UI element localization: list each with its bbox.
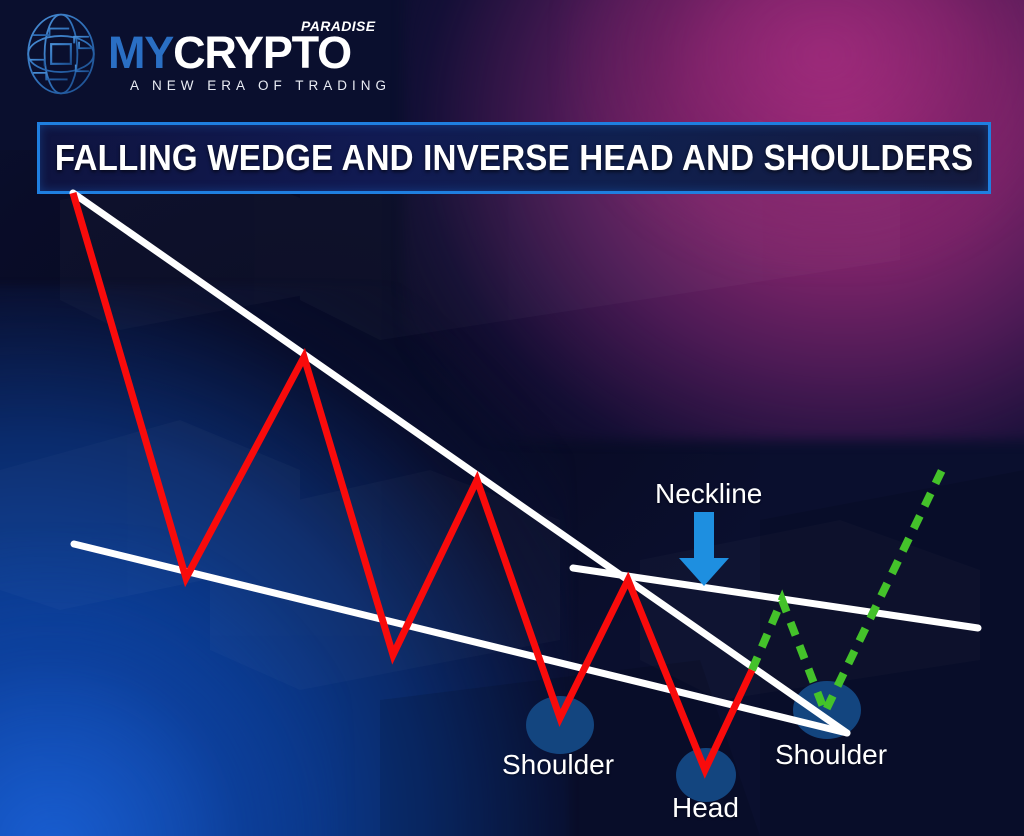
head-label: Head bbox=[672, 792, 739, 824]
projection-breakout-line bbox=[752, 470, 942, 712]
neckline-label: Neckline bbox=[655, 478, 762, 510]
pattern-chart bbox=[0, 0, 1024, 836]
infographic-canvas: MYCRYPTO PARADISE A NEW ERA OF TRADING F… bbox=[0, 0, 1024, 836]
shoulder-right-label: Shoulder bbox=[775, 739, 887, 771]
shoulder-left-label: Shoulder bbox=[502, 749, 614, 781]
wedge-upper-trendline bbox=[73, 193, 847, 733]
neckline-arrow-icon bbox=[679, 512, 729, 586]
